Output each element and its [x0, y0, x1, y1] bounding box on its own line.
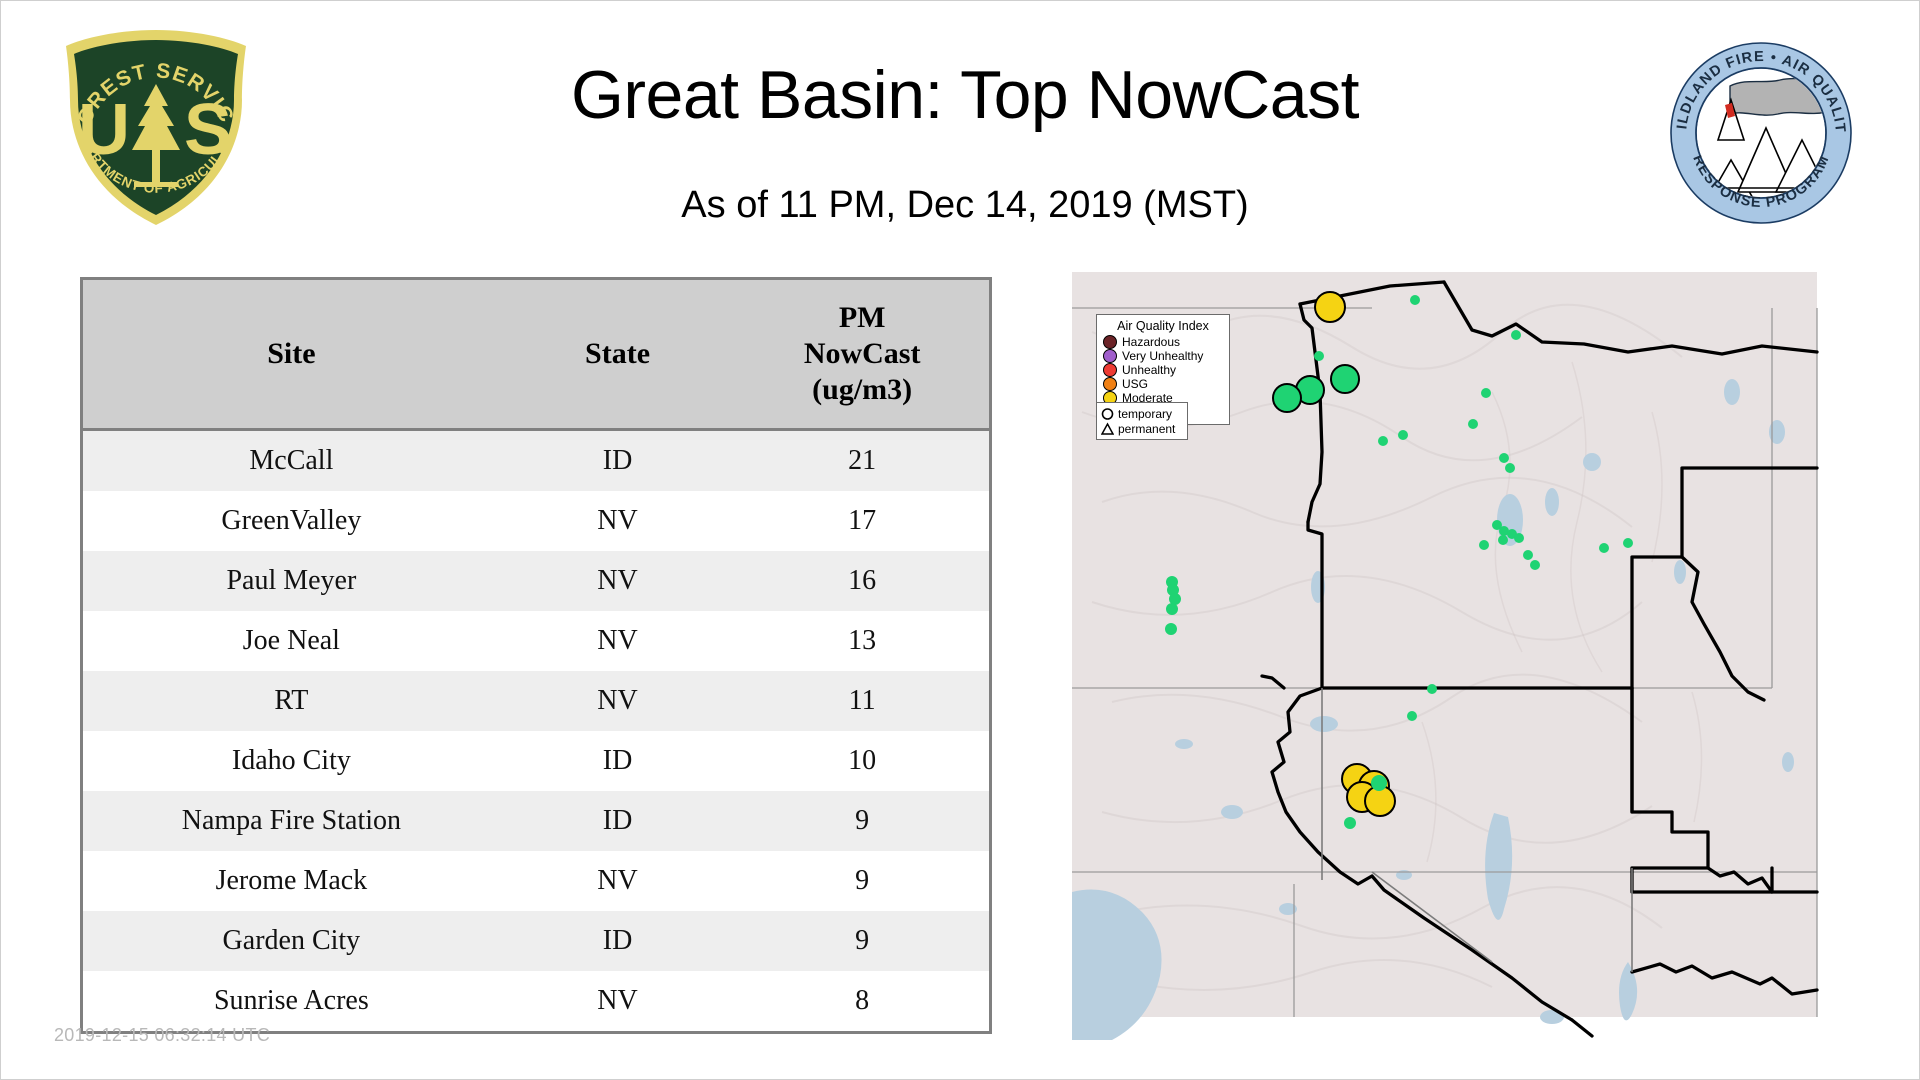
- cell-state: NV: [500, 971, 736, 1031]
- aqi-legend-label: Very Unhealthy: [1122, 349, 1203, 363]
- aqi-swatch-icon: [1103, 335, 1117, 349]
- cell-site: McCall: [83, 430, 500, 492]
- aqi-legend-entry: Hazardous: [1103, 335, 1223, 349]
- map-marker-monitor[interactable]: [1511, 330, 1521, 340]
- cell-pm-nowcast: 11: [735, 671, 989, 731]
- map-marker-monitor[interactable]: [1623, 538, 1633, 548]
- map-marker-monitor[interactable]: [1499, 453, 1509, 463]
- table-row: Garden CityID9: [83, 911, 989, 971]
- map-marker-monitor[interactable]: [1407, 711, 1417, 721]
- legend-label-permanent: permanent: [1118, 422, 1175, 436]
- site-type-legend: temporary permanent: [1096, 402, 1188, 440]
- cell-state: ID: [500, 731, 736, 791]
- map-marker-monitor[interactable]: [1481, 388, 1491, 398]
- pm-header-line-1: PM: [741, 300, 983, 336]
- column-header-pm-nowcast: PM NowCast (ug/m3): [735, 280, 989, 430]
- nowcast-table: Site State PM NowCast (ug/m3) McCallID21…: [83, 280, 989, 1031]
- aqi-swatch-icon: [1103, 377, 1117, 391]
- wfaqrp-logo: WILDLAND FIRE • AIR QUALITY RESPONSE PRO…: [1668, 40, 1854, 226]
- cell-pm-nowcast: 9: [735, 791, 989, 851]
- table-row: RTNV11: [83, 671, 989, 731]
- page-title: Great Basin: Top NowCast: [300, 56, 1630, 134]
- map-marker-monitor[interactable]: [1344, 817, 1356, 829]
- cell-site: Paul Meyer: [83, 551, 500, 611]
- cell-state: ID: [500, 430, 736, 492]
- column-header-site: Site: [83, 280, 500, 430]
- aqi-legend-label: Hazardous: [1122, 335, 1180, 349]
- map-marker-monitor[interactable]: [1505, 463, 1515, 473]
- cell-pm-nowcast: 17: [735, 491, 989, 551]
- map-marker-monitor[interactable]: [1166, 603, 1178, 615]
- table-head: Site State PM NowCast (ug/m3): [83, 280, 989, 430]
- cell-pm-nowcast: 21: [735, 430, 989, 492]
- map-marker-top-site[interactable]: [1314, 291, 1346, 323]
- map-marker-monitor[interactable]: [1468, 419, 1478, 429]
- cell-pm-nowcast: 9: [735, 911, 989, 971]
- cell-pm-nowcast: 16: [735, 551, 989, 611]
- air-quality-map[interactable]: Air Quality Index HazardousVery Unhealth…: [1072, 272, 1840, 1040]
- aqi-swatch-icon: [1103, 363, 1117, 377]
- map-marker-monitor[interactable]: [1523, 550, 1533, 560]
- cell-site: Garden City: [83, 911, 500, 971]
- cell-site: RT: [83, 671, 500, 731]
- cell-state: NV: [500, 671, 736, 731]
- aqi-legend-title: Air Quality Index: [1103, 319, 1223, 333]
- cell-state: NV: [500, 491, 736, 551]
- pm-header-line-3: (ug/m3): [741, 372, 983, 408]
- map-marker-monitor[interactable]: [1378, 436, 1388, 446]
- map-marker-top-site[interactable]: [1272, 383, 1302, 413]
- legend-row-permanent: permanent: [1101, 421, 1183, 436]
- aqi-legend-entry: USG: [1103, 377, 1223, 391]
- map-marker-monitor[interactable]: [1530, 560, 1540, 570]
- cell-site: GreenValley: [83, 491, 500, 551]
- cell-site: Idaho City: [83, 731, 500, 791]
- cell-pm-nowcast: 13: [735, 611, 989, 671]
- pm-header-line-2: NowCast: [741, 336, 983, 372]
- map-marker-monitor[interactable]: [1514, 533, 1524, 543]
- legend-label-temporary: temporary: [1118, 407, 1172, 421]
- aqi-legend-entry: Unhealthy: [1103, 363, 1223, 377]
- temporary-circle-icon: [1101, 407, 1114, 421]
- top-nowcast-table: Site State PM NowCast (ug/m3) McCallID21…: [80, 277, 992, 1034]
- column-header-state: State: [500, 280, 736, 430]
- table-row: GreenValleyNV17: [83, 491, 989, 551]
- cell-pm-nowcast: 8: [735, 971, 989, 1031]
- map-marker-monitor[interactable]: [1599, 543, 1609, 553]
- cell-site: Nampa Fire Station: [83, 791, 500, 851]
- aqi-legend-label: Unhealthy: [1122, 363, 1176, 377]
- cell-state: NV: [500, 611, 736, 671]
- cell-state: NV: [500, 551, 736, 611]
- table-header-row: Site State PM NowCast (ug/m3): [83, 280, 989, 430]
- map-marker-monitor[interactable]: [1427, 684, 1437, 694]
- map-marker-top-site[interactable]: [1330, 364, 1360, 394]
- permanent-triangle-icon: [1101, 422, 1114, 436]
- svg-text:U: U: [78, 90, 130, 170]
- table-row: Jerome MackNV9: [83, 851, 989, 911]
- cell-site: Jerome Mack: [83, 851, 500, 911]
- cell-site: Sunrise Acres: [83, 971, 500, 1031]
- cell-state: ID: [500, 791, 736, 851]
- map-marker-monitor[interactable]: [1479, 540, 1489, 550]
- cell-state: ID: [500, 911, 736, 971]
- map-marker-monitor[interactable]: [1398, 430, 1408, 440]
- legend-row-temporary: temporary: [1101, 406, 1183, 421]
- table-row: Nampa Fire StationID9: [83, 791, 989, 851]
- forest-service-shield-logo: FOREST SERVICE DEPARTMENT OF AGRICULTURE…: [56, 26, 256, 230]
- table-row: Paul MeyerNV16: [83, 551, 989, 611]
- page-subtitle: As of 11 PM, Dec 14, 2019 (MST): [300, 182, 1630, 228]
- aqi-swatch-icon: [1103, 349, 1117, 363]
- map-marker-monitor[interactable]: [1371, 775, 1387, 791]
- table-row: Joe NealNV13: [83, 611, 989, 671]
- table-body: McCallID21GreenValleyNV17Paul MeyerNV16J…: [83, 430, 989, 1032]
- cell-pm-nowcast: 10: [735, 731, 989, 791]
- svg-text:S: S: [184, 90, 232, 170]
- cell-state: NV: [500, 851, 736, 911]
- map-marker-monitor[interactable]: [1498, 535, 1508, 545]
- table-row: Sunrise AcresNV8: [83, 971, 989, 1031]
- generated-timestamp: 2019-12-15 06:32:14 UTC: [54, 1025, 270, 1046]
- cell-site: Joe Neal: [83, 611, 500, 671]
- map-marker-monitor[interactable]: [1314, 351, 1324, 361]
- table-row: McCallID21: [83, 430, 989, 492]
- table-row: Idaho CityID10: [83, 731, 989, 791]
- aqi-legend-label: USG: [1122, 377, 1148, 391]
- map-marker-monitor[interactable]: [1410, 295, 1420, 305]
- aqi-legend-entry: Very Unhealthy: [1103, 349, 1223, 363]
- map-marker-monitor[interactable]: [1165, 623, 1177, 635]
- cell-pm-nowcast: 9: [735, 851, 989, 911]
